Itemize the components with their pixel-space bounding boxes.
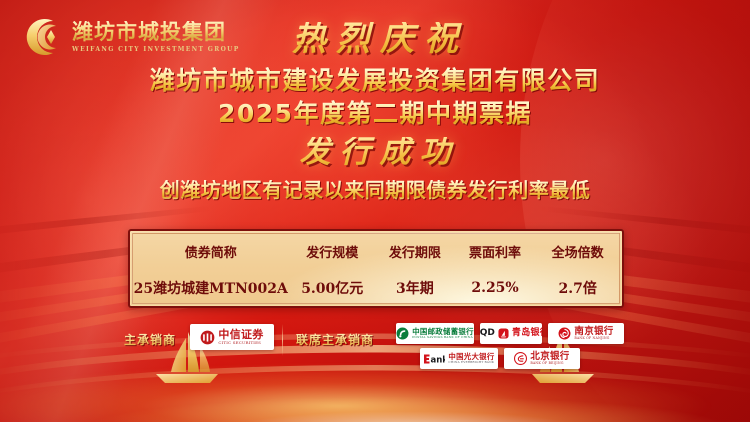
lead-underwriter-label: 主承销商 bbox=[124, 331, 176, 348]
cell-subscription-multiple: 2.7倍 bbox=[536, 269, 619, 307]
sponsor-name-en: CITIC SECURITIES bbox=[218, 341, 261, 345]
sponsor-logo-bank-of-qingdao: BQD 青岛银行 bbox=[480, 323, 542, 344]
bond-details-panel: 债券简称 发行规模 发行期限 票面利率 全场倍数 25潍坊城建MTN002A 5… bbox=[128, 229, 624, 308]
citic-seal-icon bbox=[200, 330, 215, 345]
beijing-coin-icon bbox=[514, 352, 527, 365]
cell-bond-name: 25潍坊城建MTN002A bbox=[133, 269, 289, 307]
sponsor-logo-china-everbright-bank: ank 中国光大银行 CHINA EVERBRIGHT BANK bbox=[420, 348, 498, 369]
sponsor-name-en: BANK OF BEIJING bbox=[530, 362, 563, 366]
joint-underwriter-label: 联席主承销商 bbox=[296, 331, 374, 348]
sponsor-logo-bank-of-nanjing: 南京银行 BANK OF NANJING bbox=[548, 323, 624, 344]
celebration-poster: 潍坊市城投集团 WEIFANG CITY INVESTMENT GROUP 热烈… bbox=[0, 0, 750, 422]
table-row: 25潍坊城建MTN002A 5.00亿元 3年期 2.25% 2.7倍 bbox=[133, 269, 619, 307]
sponsor-name-en: CHINA EVERBRIGHT BANK bbox=[448, 361, 494, 364]
table-header-row: 债券简称 发行规模 发行期限 票面利率 全场倍数 bbox=[133, 234, 619, 269]
everbright-ebank-icon: ank bbox=[423, 353, 445, 365]
headline-block: 热烈庆祝 潍坊市城市建设发展投资集团有限公司 2025年度第二期中期票据 发行成… bbox=[0, 22, 750, 200]
col-header-bond-name: 债券简称 bbox=[133, 234, 289, 269]
col-header-issue-size: 发行规模 bbox=[289, 234, 376, 269]
issue-title: 2025年度第二期中期票据 bbox=[0, 100, 750, 128]
cell-issue-size: 5.00亿元 bbox=[289, 269, 376, 307]
col-header-subscription-multiple: 全场倍数 bbox=[536, 234, 619, 269]
sponsor-name-en: BANK OF NANJING bbox=[574, 337, 609, 341]
company-name: 潍坊市城市建设发展投资集团有限公司 bbox=[0, 67, 750, 95]
cell-coupon-rate: 2.25% bbox=[454, 269, 537, 307]
sponsor-divider bbox=[282, 324, 283, 356]
sponsor-name-cn: 中信证券 bbox=[218, 329, 263, 341]
sponsor-logo-bank-of-beijing: 北京银行 BANK OF BEIJING bbox=[504, 348, 580, 369]
success-title: 发行成功 bbox=[0, 137, 750, 168]
nanjing-rose-icon bbox=[558, 327, 571, 340]
col-header-tenor: 发行期限 bbox=[376, 234, 454, 269]
sponsor-logo-citic-securities: 中信证券 CITIC SECURITIES bbox=[190, 324, 274, 350]
col-header-coupon-rate: 票面利率 bbox=[454, 234, 537, 269]
bqd-sail-icon bbox=[498, 328, 509, 339]
cell-tenor: 3年期 bbox=[376, 269, 454, 307]
psbc-horn-icon bbox=[396, 327, 409, 340]
sponsor-name-en: POSTAL SAVINGS BANK OF CHINA bbox=[412, 336, 473, 339]
sponsors-block: 主承销商 联席主承销商 中信证券 CITIC SECURITIES bbox=[0, 320, 750, 382]
celebrate-title: 热烈庆祝 bbox=[0, 22, 750, 56]
svg-text:ank: ank bbox=[431, 355, 446, 365]
bond-table-body: 25潍坊城建MTN002A 5.00亿元 3年期 2.25% 2.7倍 bbox=[133, 269, 619, 307]
sponsor-logo-postal-savings-bank: 中国邮政储蓄银行 POSTAL SAVINGS BANK OF CHINA bbox=[396, 323, 474, 344]
bond-table: 债券简称 发行规模 发行期限 票面利率 全场倍数 bbox=[133, 234, 619, 269]
record-subtitle: 创潍坊地区有记录以来同期限债券发行利率最低 bbox=[0, 180, 750, 200]
sponsor-abbr-bqd: BQD bbox=[480, 329, 495, 338]
sponsor-name-cn: 青岛银行 bbox=[512, 329, 542, 338]
